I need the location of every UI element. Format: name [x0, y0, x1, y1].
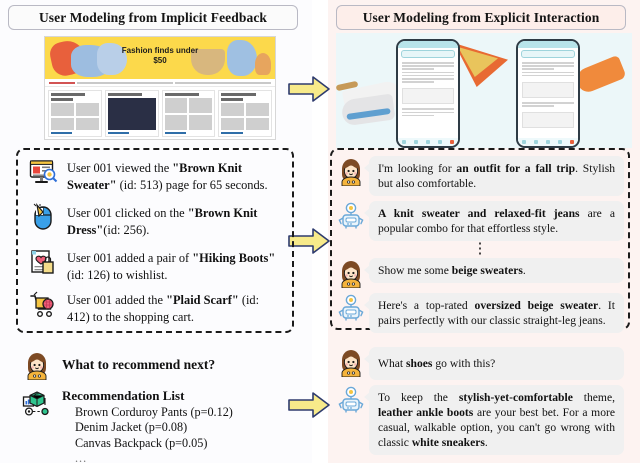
chat-row-user: What shoes go with this?: [336, 347, 624, 380]
phone-chat-lines: [518, 100, 578, 110]
ecommerce-homepage-screenshot: Fashion finds under $50: [44, 36, 276, 140]
robot-avatar-icon: [336, 293, 366, 323]
wishlist-icon: [28, 248, 58, 278]
homepage-hero-banner: Fashion finds under $50: [45, 37, 275, 79]
mouse-click-icon: [28, 203, 58, 233]
robot-avatar-icon: [336, 201, 366, 231]
phone-chat-lines: [398, 106, 458, 120]
event-row-page-view: User 001 viewed the "Brown Knit Sweater"…: [28, 158, 278, 193]
chat-bubble-assistant: To keep the stylish-yet-comfortable them…: [369, 385, 624, 455]
phone-chat-lines: [518, 60, 578, 80]
phone-status-bar: [518, 41, 578, 48]
dialogue-followup-group: What shoes go with this? T: [336, 347, 624, 460]
card-link-bar[interactable]: [221, 132, 242, 134]
homepage-card-grid: [45, 87, 275, 140]
homepage-card[interactable]: [105, 90, 159, 137]
card-title-bar: [221, 98, 243, 101]
phone-bottom-nav[interactable]: [518, 138, 578, 146]
card-link-bar[interactable]: [165, 132, 186, 134]
notice-line: [175, 82, 271, 84]
figure-root: User Modeling from Implicit Feedback Use…: [0, 0, 640, 463]
chat-bubble-user: Show me some beige sweaters.: [369, 258, 624, 283]
notice-line: [77, 82, 173, 84]
banner-graphic-sandal: [255, 53, 271, 75]
event-text-click: User 001 clicked on the "Brown Knit Dres…: [67, 203, 278, 238]
event-row-wishlist: User 001 added a pair of "Hiking Boots" …: [28, 248, 278, 283]
homepage-notice-strip: [45, 79, 275, 87]
phone-mockup-shoe-chat: [516, 39, 580, 148]
card-link-bar[interactable]: [51, 132, 72, 134]
chat-bubble-user: I'm looking for an outfit for a fall tri…: [369, 156, 624, 196]
girl-avatar-icon: [336, 347, 366, 377]
card-thumb-grid: [51, 103, 99, 130]
question-row: What to recommend next?: [22, 350, 215, 380]
phone-bottom-nav[interactable]: [398, 138, 458, 146]
phone-search-bar[interactable]: [401, 50, 455, 58]
shopping-cart-icon: [28, 290, 58, 320]
event-text-wishlist: User 001 added a pair of "Hiking Boots" …: [67, 248, 278, 283]
chat-row-user: I'm looking for an outfit for a fall tri…: [336, 156, 624, 196]
recommendation-ellipsis: ...: [62, 451, 233, 467]
phone-product-card[interactable]: [522, 82, 574, 98]
chat-row-assistant: Here's a top-rated oversized beige sweat…: [336, 293, 624, 333]
phone-mockups-image: [336, 33, 632, 148]
phone-search-bar[interactable]: [521, 50, 575, 58]
recsys-pipeline-icon: [22, 388, 52, 418]
phone-chat-lines: [398, 60, 458, 86]
card-link-bar[interactable]: [108, 132, 129, 134]
page-view-icon: [28, 158, 58, 188]
recommendation-title: Recommendation List: [62, 388, 233, 404]
banner-headline: Fashion finds under $50: [115, 46, 205, 66]
dialogue-bottom-group: Show me some beige sweaters.: [336, 258, 624, 338]
arrow-recommendation-to-chat: [287, 390, 331, 420]
card-thumb-grid: [165, 98, 213, 130]
orange-sneaker-icon: [573, 55, 626, 95]
phone-product-card[interactable]: [522, 112, 574, 128]
chat-bubble-assistant: A knit sweater and relaxed-fit jeans are…: [369, 201, 624, 241]
robot-avatar-icon: [336, 385, 366, 415]
notice-accent: [49, 82, 75, 84]
recommendation-row: Recommendation List Brown Corduroy Pants…: [22, 388, 233, 467]
homepage-card[interactable]: [48, 90, 102, 137]
recommendation-item: Canvas Backpack (p=0.05): [62, 436, 233, 452]
card-title-bar: [165, 93, 199, 96]
chat-row-user: Show me some beige sweaters.: [336, 258, 624, 288]
question-text: What to recommend next?: [62, 357, 215, 373]
card-title-bar: [221, 93, 255, 96]
card-title-bar: [51, 93, 85, 96]
dialogue-top-group: I'm looking for an outfit for a fall tri…: [336, 156, 624, 253]
phone-product-card[interactable]: [402, 88, 454, 104]
recommendation-item: Denim Jacket (p=0.08): [62, 420, 233, 436]
arrow-screenshot-to-phones: [287, 74, 331, 104]
event-row-click: User 001 clicked on the "Brown Knit Dres…: [28, 203, 278, 238]
card-hero-thumb: [108, 98, 156, 130]
chat-row-assistant: A knit sweater and relaxed-fit jeans are…: [336, 201, 624, 241]
homepage-card[interactable]: [218, 90, 272, 137]
chat-bubble-assistant: Here's a top-rated oversized beige sweat…: [369, 293, 624, 333]
homepage-card[interactable]: [162, 90, 216, 137]
card-title-bar: [51, 98, 73, 101]
girl-avatar-icon: [336, 156, 366, 186]
phone-mockup-food-chat: [396, 39, 460, 148]
card-thumb-grid: [221, 103, 269, 130]
recommendation-item: Brown Corduroy Pants (p=0.12): [62, 405, 233, 421]
event-row-cart: User 001 added the "Plaid Scarf" (id: 41…: [28, 290, 278, 325]
girl-avatar-icon: [22, 350, 52, 380]
card-title-bar: [108, 93, 142, 96]
banner-graphic-blouse: [227, 40, 257, 76]
chat-bubble-user: What shoes go with this?: [369, 347, 624, 380]
event-text-page-view: User 001 viewed the "Brown Knit Sweater"…: [67, 158, 278, 193]
panel-right-title: User Modeling from Explicit Interaction: [336, 5, 626, 30]
phone-status-bar: [398, 41, 458, 48]
dialogue-continuation-dots: ⋮: [336, 246, 624, 253]
recommendation-list: Recommendation List Brown Corduroy Pants…: [62, 388, 233, 467]
event-text-cart: User 001 added the "Plaid Scarf" (id: 41…: [67, 290, 278, 325]
panel-left-title: User Modeling from Implicit Feedback: [8, 5, 298, 30]
chat-row-assistant: To keep the stylish-yet-comfortable them…: [336, 385, 624, 455]
girl-avatar-icon: [336, 258, 366, 288]
